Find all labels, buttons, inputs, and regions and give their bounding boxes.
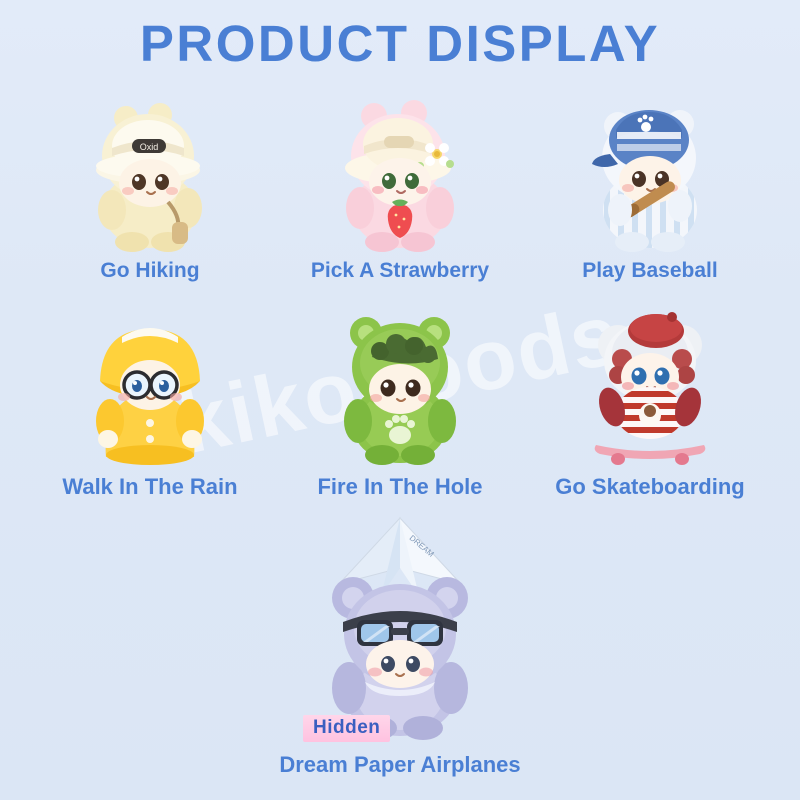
product-card-pick-a-strawberry[interactable]: Pick A Strawberry bbox=[275, 82, 525, 297]
product-card-play-baseball[interactable]: Play Baseball bbox=[525, 82, 775, 297]
product-card-fire-in-the-hole[interactable]: Fire In The Hole bbox=[275, 297, 525, 512]
hidden-badge: Hidden bbox=[303, 715, 390, 742]
product-caption: Play Baseball bbox=[582, 259, 717, 283]
product-display-page: kikogoods PRODUCT DISPLAY bbox=[0, 0, 800, 800]
go-skateboarding-illustration bbox=[560, 297, 740, 472]
product-card-walk-in-the-rain[interactable]: Walk In The Rain bbox=[25, 297, 275, 512]
product-caption: Go Hiking bbox=[100, 259, 199, 283]
pick-a-strawberry-illustration bbox=[310, 82, 490, 257]
page-title: PRODUCT DISPLAY bbox=[0, 14, 800, 73]
product-caption: Fire In The Hole bbox=[317, 474, 482, 500]
figure-dream-paper-airplanes: DREAM bbox=[285, 512, 515, 750]
product-row-2: Walk In The Rain bbox=[0, 297, 800, 512]
figure-go-skateboarding bbox=[560, 297, 740, 472]
figure-fire-in-the-hole bbox=[310, 297, 490, 472]
row3-spacer-right bbox=[525, 512, 775, 792]
fire-in-the-hole-illustration bbox=[310, 297, 490, 472]
product-row-3: DREAM bbox=[0, 512, 800, 792]
figure-play-baseball bbox=[560, 82, 740, 257]
product-caption: Walk In The Rain bbox=[62, 474, 237, 500]
figure-walk-in-the-rain bbox=[60, 297, 240, 472]
row3-spacer-left bbox=[25, 512, 275, 792]
product-grid: Oxid Go Hiking bbox=[0, 82, 800, 792]
product-card-go-hiking[interactable]: Oxid Go Hiking bbox=[25, 82, 275, 297]
product-row-1: Oxid Go Hiking bbox=[0, 82, 800, 297]
walk-in-the-rain-illustration bbox=[60, 297, 240, 472]
product-caption: Pick A Strawberry bbox=[311, 259, 489, 283]
go-hiking-illustration: Oxid bbox=[60, 82, 240, 257]
figure-go-hiking: Oxid bbox=[60, 82, 240, 257]
product-caption: Go Skateboarding bbox=[555, 474, 744, 500]
figure-pick-a-strawberry bbox=[310, 82, 490, 257]
play-baseball-illustration bbox=[560, 82, 740, 257]
product-card-dream-paper-airplanes[interactable]: DREAM bbox=[275, 512, 525, 792]
product-caption: Dream Paper Airplanes bbox=[279, 752, 520, 778]
svg-text:Oxid: Oxid bbox=[140, 142, 159, 152]
product-card-go-skateboarding[interactable]: Go Skateboarding bbox=[525, 297, 775, 512]
